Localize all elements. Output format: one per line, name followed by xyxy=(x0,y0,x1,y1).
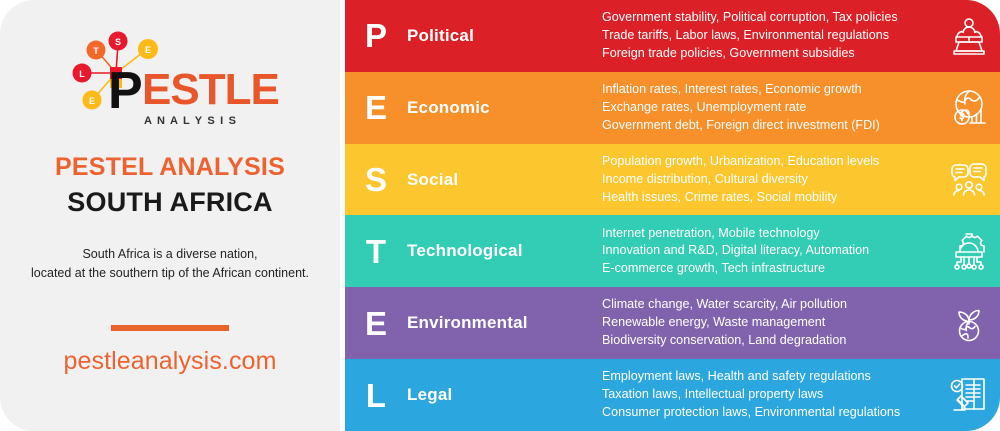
row-point: Income distribution, Cultural diversity xyxy=(602,171,932,189)
row-point: Foreign trade policies, Government subsi… xyxy=(602,45,932,63)
svg-text:T: T xyxy=(93,46,99,56)
pestel-infographic: T S E L E P ESTLE A N A L Y S I S PESTEL… xyxy=(0,0,1000,431)
row-letter: E xyxy=(345,307,407,340)
divider xyxy=(111,325,229,331)
row-point: Government stability, Political corrupti… xyxy=(602,9,932,27)
row-title: Economic xyxy=(407,98,602,118)
row-point: Climate change, Water scarcity, Air poll… xyxy=(602,296,932,314)
row-title: Political xyxy=(407,26,602,46)
pestel-row-technological[interactable]: T Technological Internet penetration, Mo… xyxy=(345,215,1000,287)
row-point: Renewable energy, Waste management xyxy=(602,314,932,332)
row-point: Employment laws, Health and safety regul… xyxy=(602,368,932,386)
row-letter: E xyxy=(345,91,407,124)
row-points: Employment laws, Health and safety regul… xyxy=(602,368,938,422)
logo-letter-p: P xyxy=(108,62,143,120)
row-title: Technological xyxy=(407,241,602,261)
row-point: Inflation rates, Interest rates, Economi… xyxy=(602,81,932,99)
row-point: Trade tariffs, Labor laws, Environmental… xyxy=(602,27,932,45)
row-letter: P xyxy=(345,19,407,52)
logo-wordmark-rest: ESTLE xyxy=(142,65,279,114)
row-points: Government stability, Political corrupti… xyxy=(602,9,938,63)
pestel-rows: P Political Government stability, Politi… xyxy=(345,0,1000,431)
row-points: Population growth, Urbanization, Educati… xyxy=(602,153,938,207)
row-point: Taxation laws, Intellectual property law… xyxy=(602,386,932,404)
globe-dollar-barchart-icon xyxy=(938,87,1000,129)
row-title: Environmental xyxy=(407,313,602,333)
svg-text:S: S xyxy=(115,37,121,47)
logo-artwork: T S E L E P ESTLE A N A L Y S I S xyxy=(60,26,280,138)
globe-sprout-icon xyxy=(938,302,1000,344)
logo-subtitle: A N A L Y S I S xyxy=(144,115,237,127)
speech-bubbles-people-icon xyxy=(938,159,1000,201)
description-line-1: South Africa is a diverse nation, xyxy=(20,245,320,264)
row-point: Exchange rates, Unemployment rate xyxy=(602,99,932,117)
pestel-row-social[interactable]: S Social Population growth, Urbanization… xyxy=(345,144,1000,216)
row-point: Internet penetration, Mobile technology xyxy=(602,225,932,243)
row-point: E-commerce growth, Tech infrastructure xyxy=(602,260,932,278)
svg-text:E: E xyxy=(145,45,151,55)
row-points: Internet penetration, Mobile technology … xyxy=(602,225,938,279)
description: South Africa is a diverse nation, locate… xyxy=(20,245,320,283)
description-line-2: located at the southern tip of the Afric… xyxy=(20,264,320,283)
svg-text:E: E xyxy=(89,96,95,106)
website-url[interactable]: pestleanalysis.com xyxy=(63,347,276,376)
document-gavel-icon xyxy=(938,374,1000,416)
row-points: Climate change, Water scarcity, Air poll… xyxy=(602,296,938,350)
row-letter: L xyxy=(345,379,407,412)
row-point: Health issues, Crime rates, Social mobil… xyxy=(602,189,932,207)
row-point: Population growth, Urbanization, Educati… xyxy=(602,153,932,171)
row-title: Legal xyxy=(407,385,602,405)
row-letter: T xyxy=(345,235,407,268)
row-point: Consumer protection laws, Environmental … xyxy=(602,404,932,422)
row-points: Inflation rates, Interest rates, Economi… xyxy=(602,81,938,135)
pestel-row-legal[interactable]: L Legal Employment laws, Health and safe… xyxy=(345,359,1000,431)
podium-speaker-icon xyxy=(938,15,1000,57)
row-point: Biodiversity conservation, Land degradat… xyxy=(602,332,932,350)
pestel-row-environmental[interactable]: E Environmental Climate change, Water sc… xyxy=(345,287,1000,359)
svg-text:L: L xyxy=(79,69,85,79)
page-subtitle: SOUTH AFRICA xyxy=(67,188,272,218)
gear-circuit-icon xyxy=(938,230,1000,272)
left-info-panel: T S E L E P ESTLE A N A L Y S I S PESTEL… xyxy=(0,0,340,431)
row-point: Innovation and R&D, Digital literacy, Au… xyxy=(602,242,932,260)
row-title: Social xyxy=(407,170,602,190)
pestle-analysis-logo: T S E L E P ESTLE A N A L Y S I S xyxy=(60,26,280,138)
row-letter: S xyxy=(345,163,407,196)
pestel-row-political[interactable]: P Political Government stability, Politi… xyxy=(345,0,1000,72)
row-point: Government debt, Foreign direct investme… xyxy=(602,117,932,135)
pestel-row-economic[interactable]: E Economic Inflation rates, Interest rat… xyxy=(345,72,1000,144)
page-title: PESTEL ANALYSIS xyxy=(55,154,285,182)
